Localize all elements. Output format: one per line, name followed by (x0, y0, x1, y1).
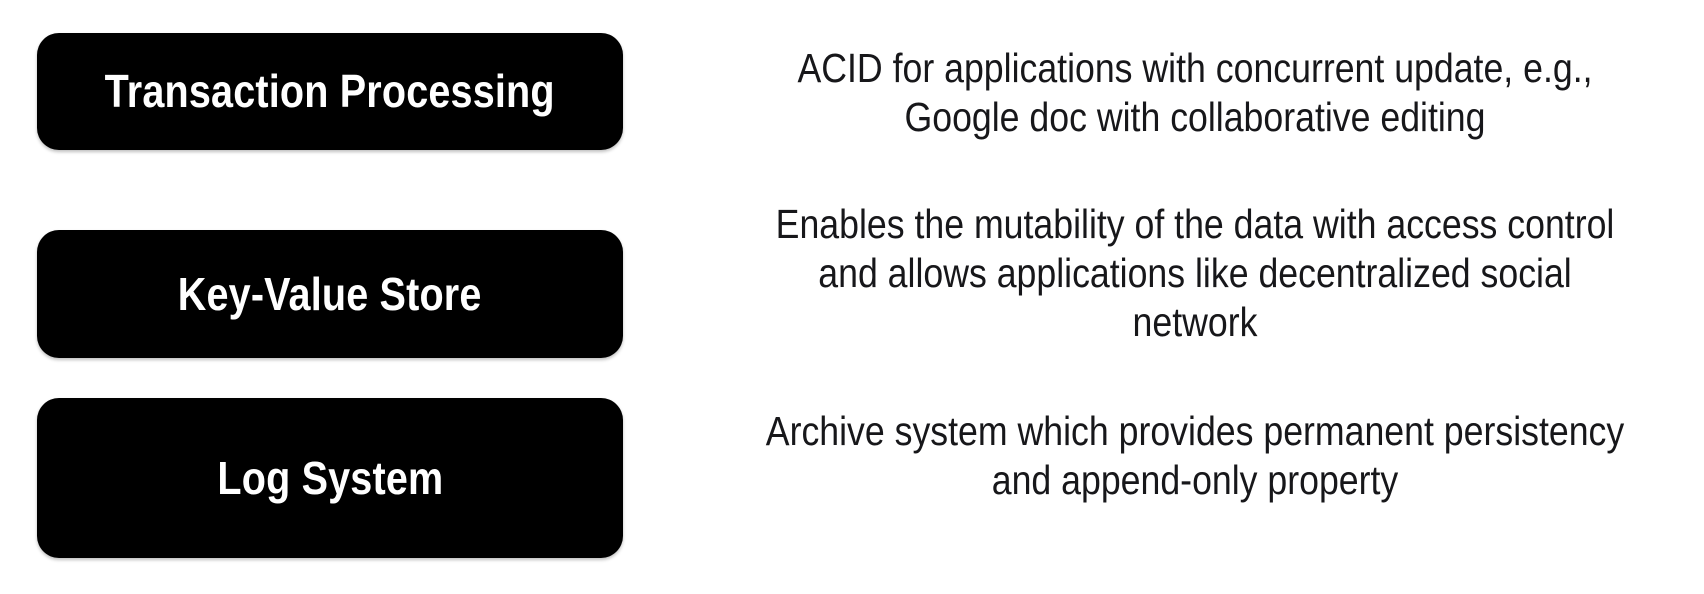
concept-box-label: Log System (217, 454, 443, 502)
concept-description-text: ACID for applications with concurrent up… (764, 44, 1625, 142)
concept-box-log-system[interactable]: Log System (37, 398, 623, 558)
concept-description-transaction-processing: ACID for applications with concurrent up… (700, 44, 1704, 142)
concept-description-text: Archive system which provides permanent … (764, 407, 1625, 505)
concept-box-label: Transaction Processing (105, 67, 555, 115)
concept-box-transaction-processing[interactable]: Transaction Processing (37, 33, 623, 150)
concept-description-key-value-store: Enables the mutability of the data with … (700, 200, 1704, 346)
concept-description-log-system: Archive system which provides permanent … (700, 407, 1704, 505)
slide-canvas: Transaction Processing ACID for applicat… (0, 0, 1704, 594)
concept-box-key-value-store[interactable]: Key-Value Store (37, 230, 623, 358)
concept-description-text: Enables the mutability of the data with … (764, 200, 1625, 346)
concept-box-label: Key-Value Store (178, 270, 482, 318)
